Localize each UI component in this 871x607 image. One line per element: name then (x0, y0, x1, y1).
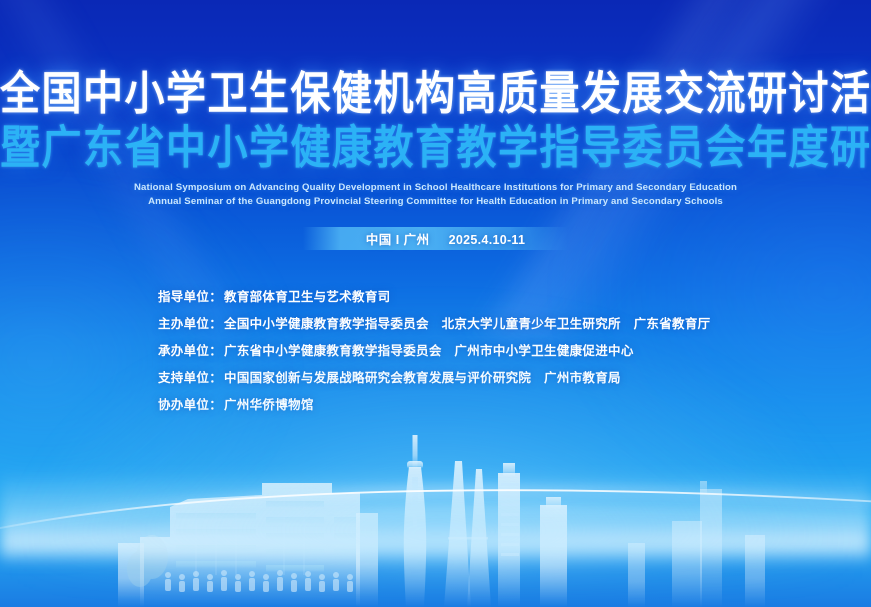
school-mullions (196, 499, 304, 575)
title-english-line1: National Symposium on Advancing Quality … (0, 181, 871, 195)
organization-label: 支持单位： (158, 367, 222, 386)
date-location-content: 中国 I 广州 2025.4.10-11 (366, 229, 526, 248)
organization-value: 教育部体育卫生与艺术教育司 (224, 286, 390, 305)
tapered-towers (444, 461, 491, 607)
organization-value: 广东省中小学健康教育教学指导委员会 广州市中小学卫生健康促进中心 (224, 340, 634, 359)
title-english-line2: Annual Seminar of the Guangdong Provinci… (0, 195, 871, 209)
crowd-silhouette (165, 570, 353, 592)
organization-label: 指导单位： (158, 286, 222, 305)
date-label: 2025.4.10-11 (449, 233, 526, 247)
organization-row: 承办单位： 广东省中小学健康教育教学指导委员会 广州市中小学卫生健康促进中心 (158, 340, 798, 367)
organization-label: 承办单位： (158, 340, 222, 359)
ground-mist (0, 471, 871, 561)
cityscape-illustration (0, 417, 871, 607)
title-chinese-line1: 全国中小学卫生保健机构高质量发展交流研讨活动 (0, 68, 871, 122)
headline-block: 全国中小学卫生保健机构高质量发展交流研讨活动 暨广东省中小学健康教育教学指导委员… (0, 68, 871, 208)
tree-silhouettes (127, 535, 168, 587)
skyscraper-window-rows (501, 483, 519, 556)
organization-label: 主办单位： (158, 313, 222, 332)
organization-value: 中国国家创新与发展战略研究会教育发展与评价研究院 广州市教育局 (224, 367, 621, 386)
title-chinese-line2: 暨广东省中小学健康教育教学指导委员会年度研讨活动 (0, 122, 871, 176)
organizations-list: 指导单位： 教育部体育卫生与艺术教育司 主办单位： 全国中小学健康教育教学指导委… (158, 286, 798, 421)
canton-tower-icon (404, 435, 426, 607)
date-location-bar-wrapper: 中国 I 广州 2025.4.10-11 (0, 227, 871, 250)
organization-value: 广州华侨博物馆 (224, 394, 314, 413)
skyscrapers-mid (498, 463, 567, 607)
school-building-icon (118, 483, 378, 607)
organization-row: 协办单位： 广州华侨博物馆 (158, 394, 798, 421)
skyscrapers-right (628, 481, 765, 607)
organization-row: 主办单位： 全国中小学健康教育教学指导委员会 北京大学儿童青少年卫生研究所 广东… (158, 313, 798, 340)
date-location-bar: 中国 I 广州 2025.4.10-11 (303, 227, 568, 250)
organization-row: 指导单位： 教育部体育卫生与艺术教育司 (158, 286, 798, 313)
organization-row: 支持单位： 中国国家创新与发展战略研究会教育发展与评价研究院 广州市教育局 (158, 367, 798, 394)
location-label: 中国 I 广州 (366, 229, 430, 248)
school-window-bands (176, 501, 356, 572)
light-arc-swoosh (0, 407, 871, 607)
conference-poster: 全国中小学卫生保健机构高质量发展交流研讨活动 暨广东省中小学健康教育教学指导委员… (0, 0, 871, 607)
organization-label: 协办单位： (158, 394, 222, 413)
organization-value: 全国中小学健康教育教学指导委员会 北京大学儿童青少年卫生研究所 广东省教育厅 (224, 313, 710, 332)
